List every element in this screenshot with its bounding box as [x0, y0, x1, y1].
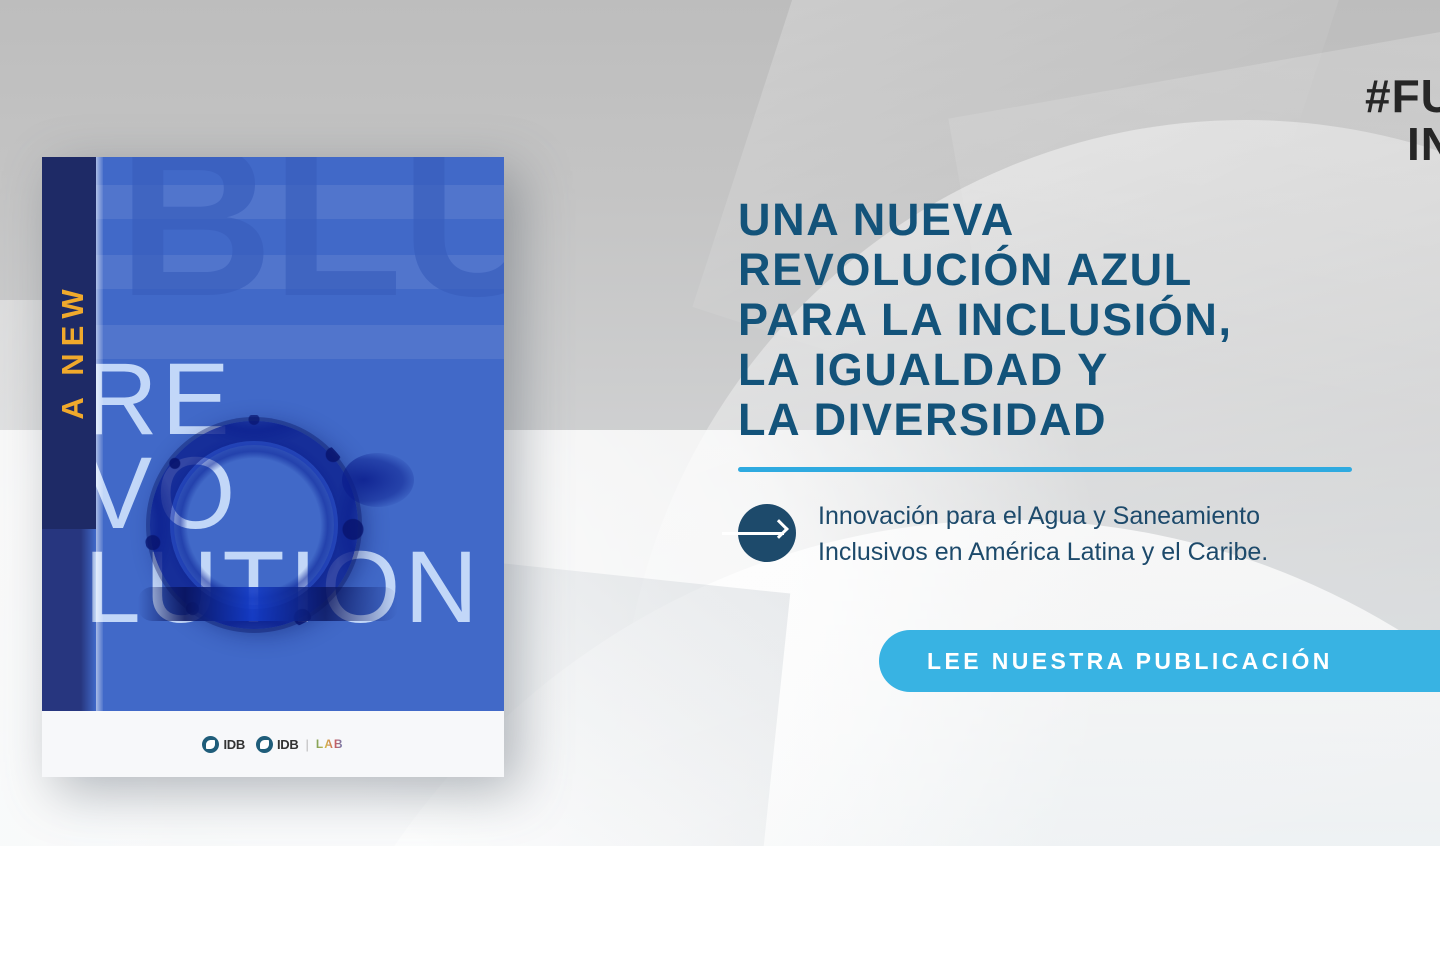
headline-line-1: UNA NUEVA	[738, 195, 1440, 245]
cover-spine-label: A NEW	[55, 216, 91, 486]
idb-lab-word: LAB	[316, 737, 344, 751]
page-subtitle: Innovación para el Agua y Saneamiento In…	[818, 498, 1268, 570]
subtitle-line-1: Innovación para el Agua y Saneamiento	[818, 498, 1268, 534]
water-splash-graphic	[138, 587, 398, 621]
subtitle-line-2: Inclusivos en América Latina y el Caribe…	[818, 534, 1268, 570]
headline-line-2: REVOLUCIÓN AZUL	[738, 245, 1440, 295]
poster-canvas: #FUE INNO BLUE RE VO LUTION OR INCLUSION…	[0, 0, 1440, 960]
idb-lab-separator: |	[305, 737, 308, 752]
headline-line-5: LA DIVERSIDAD	[738, 395, 1440, 445]
idb-globe-icon	[256, 736, 273, 753]
idb-globe-icon	[202, 736, 219, 753]
idb-logo-text: IDB	[223, 737, 245, 752]
hashtag-line-2: INNO	[1365, 120, 1440, 168]
headline-line-3: PARA LA INCLUSIÓN,	[738, 295, 1440, 345]
page-title: UNA NUEVA REVOLUCIÓN AZUL PARA LA INCLUS…	[738, 195, 1440, 445]
water-splash-graphic	[342, 453, 414, 507]
hashtag-line-1: #FUE	[1365, 70, 1440, 122]
campaign-hashtag: #FUE INNO	[1365, 72, 1440, 168]
cover-word-blue: BLUE	[118, 157, 504, 328]
cover-face: BLUE RE VO LUTION OR INCLUSION, EQUALITY…	[42, 157, 504, 777]
idb-lab-logo: IDB | LAB	[256, 736, 344, 753]
hero-copy: UNA NUEVA REVOLUCIÓN AZUL PARA LA INCLUS…	[738, 195, 1440, 570]
idb-lab-logo-text: IDB	[277, 737, 299, 752]
subtitle-row: Innovación para el Agua y Saneamiento In…	[738, 498, 1440, 570]
cover-logo-bar: IDB IDB | LAB	[42, 711, 504, 777]
partner-logo-bar: Schweizerische Eidgenossenschaft Confédé…	[0, 846, 1440, 960]
headline-line-4: LA IGUALDAD Y	[738, 345, 1440, 395]
idb-logo: IDB	[202, 736, 245, 753]
divider	[738, 467, 1352, 472]
arrow-right-icon	[738, 504, 796, 562]
read-publication-button[interactable]: LEE NUESTRA PUBLICACIÓN	[879, 630, 1440, 692]
publication-cover[interactable]: BLUE RE VO LUTION OR INCLUSION, EQUALITY…	[42, 157, 504, 777]
cover-page-edge	[96, 157, 103, 777]
